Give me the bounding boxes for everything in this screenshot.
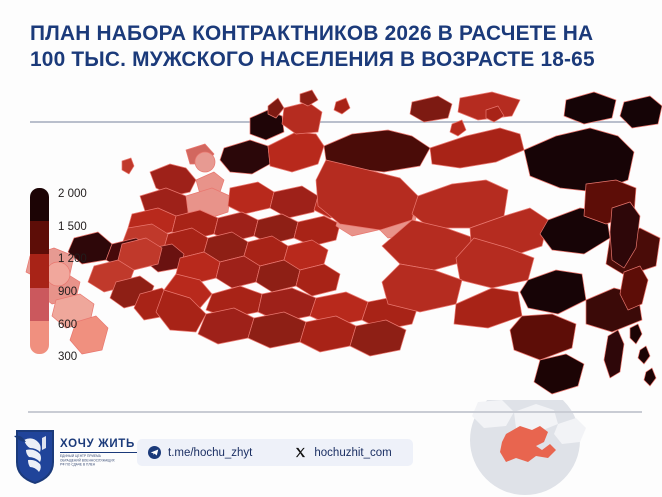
infographic-canvas: ПЛАН НАБОРА КОНТРАКТНИКОВ 2026 В РАСЧЕТЕ… (0, 0, 662, 497)
legend-label-900: 900 (58, 286, 77, 298)
page-title: ПЛАН НАБОРА КОНТРАКТНИКОВ 2026 В РАСЧЕТЕ… (30, 20, 622, 72)
brand-title: ХОЧУ ЖИТЬ (60, 438, 144, 450)
x-icon (294, 446, 307, 459)
legend-label-2000: 2 000 (58, 188, 87, 200)
legend-label-600: 600 (58, 319, 77, 331)
social-links-bar: t.me/hochu_zhyt hochuzhit_com (137, 439, 413, 466)
telegram-link-label: t.me/hochu_zhyt (168, 447, 252, 459)
brand-divider (60, 452, 138, 453)
footer: ХОЧУ ЖИТЬ ЕДИНЫЙ ЦЕНТР ПРИЕМА ОБРАЩЕНИЙ … (0, 418, 662, 497)
legend-segment-1200 (30, 254, 49, 287)
legend-segment-900 (30, 288, 49, 321)
legend-label-list: 2 000 1 500 1 200 900 600 300 (58, 182, 118, 354)
legend-label-1500: 1 500 (58, 221, 87, 233)
brand-logo[interactable]: ХОЧУ ЖИТЬ ЕДИНЫЙ ЦЕНТР ПРИЕМА ОБРАЩЕНИЙ … (12, 426, 144, 488)
title-block: ПЛАН НАБОРА КОНТРАКТНИКОВ 2026 В РАСЧЕТЕ… (30, 20, 640, 72)
legend-label-1200: 1 200 (58, 253, 87, 265)
x-link[interactable]: hochuzhit_com (294, 446, 391, 459)
telegram-icon (148, 446, 161, 459)
brand-subtitle: ЕДИНЫЙ ЦЕНТР ПРИЕМА ОБРАЩЕНИЙ ВОЕННОСЛУЖ… (60, 454, 144, 467)
brand-wordmark: ХОЧУ ЖИТЬ ЕДИНЫЙ ЦЕНТР ПРИЕМА ОБРАЩЕНИЙ … (60, 438, 144, 466)
x-link-label: hochuzhit_com (314, 447, 391, 459)
legend-segment-1500 (30, 221, 49, 254)
legend-segment-300 (30, 321, 49, 354)
legend-segment-2000 (30, 188, 49, 221)
telegram-link[interactable]: t.me/hochu_zhyt (148, 446, 252, 459)
shield-dove-icon (12, 426, 58, 486)
legend-label-300: 300 (58, 351, 77, 363)
legend-gradient-bar (30, 188, 49, 354)
footer-separator (28, 411, 642, 413)
